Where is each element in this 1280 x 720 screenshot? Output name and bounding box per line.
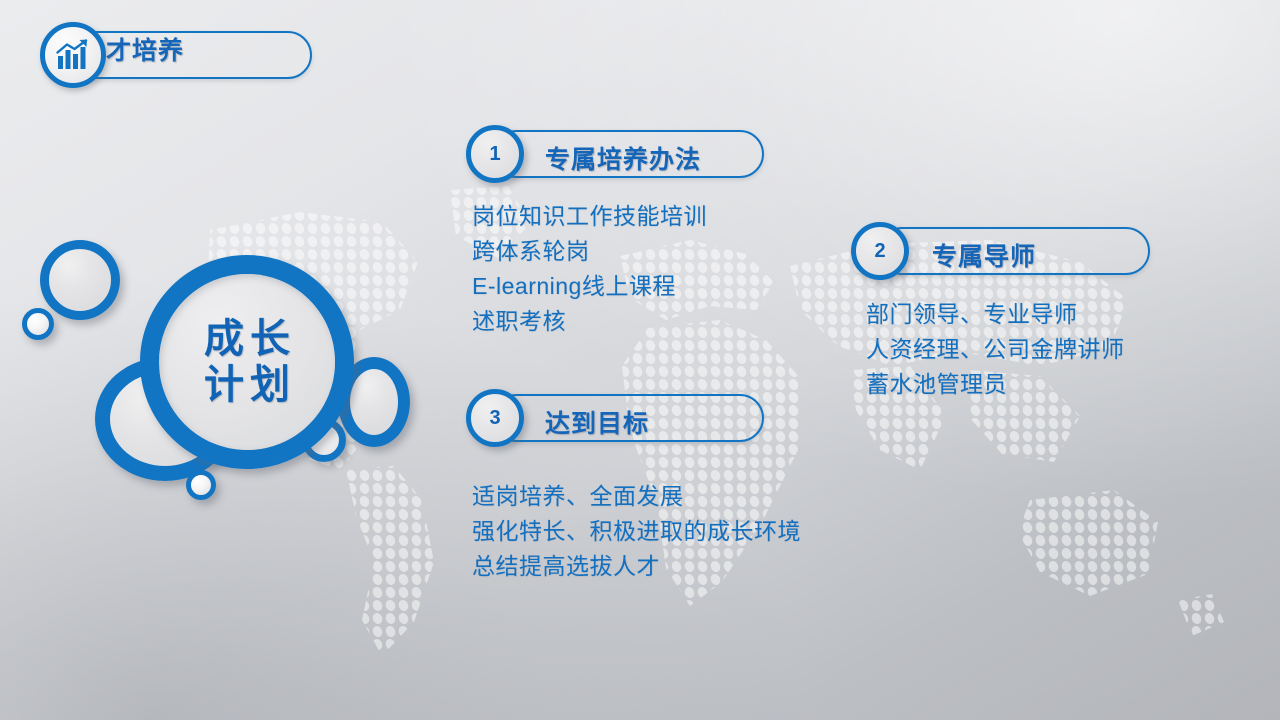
header-icon-circle xyxy=(40,22,106,88)
growth-plan-hub-circle: 成长 计划 xyxy=(140,255,354,469)
decorative-bubble-top-left xyxy=(40,240,120,320)
section-2-title: 专属导师 xyxy=(932,237,1036,273)
hub-line-1: 成长 xyxy=(198,316,296,362)
section-3-title: 达到目标 xyxy=(545,404,649,440)
slide-canvas: 人才培养 成长 计划 专属培养办法 xyxy=(0,0,1280,720)
header-badge: 人才培养 xyxy=(18,22,318,88)
section-1-body: 岗位知识工作技能培训 跨体系轮岗 E-learning线上课程 述职考核 xyxy=(472,199,892,339)
hub-line-2: 计划 xyxy=(198,362,296,408)
section-2-number: 2 xyxy=(874,241,885,261)
section-2-body: 部门领导、专业导师 人资经理、公司金牌讲师 蓄水池管理员 xyxy=(866,297,1266,402)
decorative-bubble-small-left xyxy=(22,308,54,340)
growth-plan-hub-label: 成长 计划 xyxy=(159,274,335,450)
section-1-number: 1 xyxy=(489,144,500,164)
section-3-number: 3 xyxy=(489,408,500,428)
section-1-title: 专属培养办法 xyxy=(545,140,701,176)
section-2-number-circle: 2 xyxy=(851,222,909,280)
section-3-body: 适岗培养、全面发展 强化特长、积极进取的成长环境 总结提高选拔人才 xyxy=(472,479,932,584)
growth-plan-bubble-cluster: 成长 计划 xyxy=(0,215,430,515)
section-3-number-circle: 3 xyxy=(466,389,524,447)
decorative-bubble-small-bottom xyxy=(186,470,216,500)
section-1-number-circle: 1 xyxy=(466,125,524,183)
bar-chart-growth-icon xyxy=(56,39,90,71)
